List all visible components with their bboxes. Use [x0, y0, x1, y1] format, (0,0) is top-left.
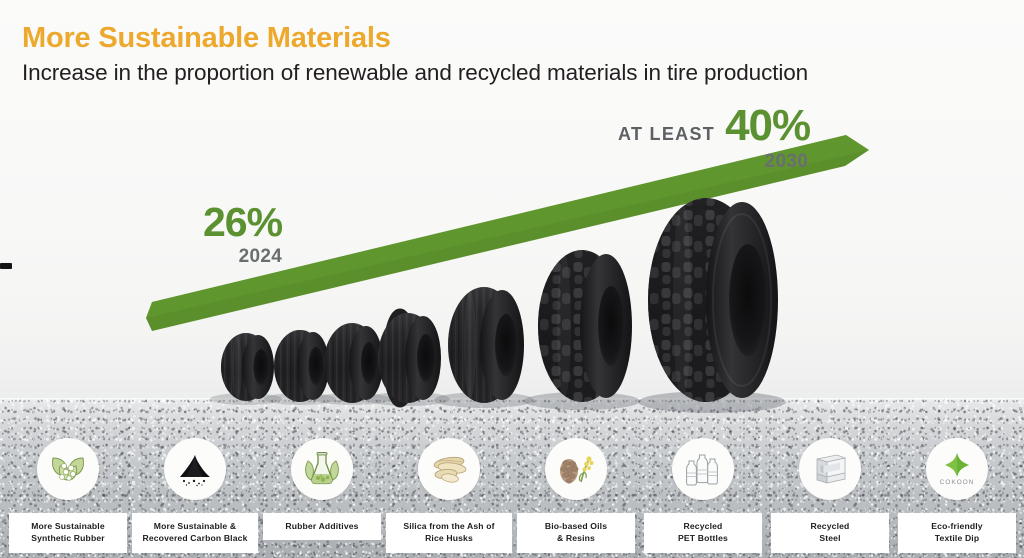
- material-card-textile-dip[interactable]: COKOON Eco-friendly Textile Dip: [893, 430, 1021, 558]
- material-card-rubber-additives[interactable]: Rubber Additives: [258, 430, 386, 558]
- material-icon-circle: [418, 438, 480, 500]
- material-label: Recycled Steel: [771, 513, 889, 553]
- callout-2024: 26% 2024: [203, 202, 282, 268]
- material-card-rice-husks[interactable]: Silica from the Ash of Rice Husks: [385, 430, 513, 558]
- material-label-line1: Silica from the Ash of: [388, 520, 510, 532]
- material-label: Eco-friendly Textile Dip: [898, 513, 1016, 553]
- material-label-line2: PET Bottles: [646, 532, 760, 544]
- cokoon-brand-text: COKOON: [940, 479, 975, 486]
- material-icon-circle: [37, 438, 99, 500]
- flask-leaves-icon: [299, 446, 345, 492]
- material-card-bio-oils[interactable]: Bio-based Oils & Resins: [512, 430, 640, 558]
- callout-2030: AT LEAST 40% 2030: [618, 104, 810, 173]
- tire-7: [648, 198, 778, 402]
- material-label: More Sustainable & Recovered Carbon Blac…: [132, 513, 258, 553]
- callout-2024-value: 26%: [203, 202, 282, 243]
- material-label-line2: Recovered Carbon Black: [134, 532, 256, 544]
- tire-3: [324, 323, 383, 403]
- tire-6: [538, 250, 632, 402]
- material-label-line2: Rice Husks: [388, 532, 510, 544]
- material-label-line1: Recycled: [773, 520, 887, 532]
- material-label-line1: Recycled: [646, 520, 760, 532]
- material-icon-circle: [545, 438, 607, 500]
- material-label: Recycled PET Bottles: [644, 513, 762, 553]
- material-icon-circle: [291, 438, 353, 500]
- callout-2024-year: 2024: [203, 246, 282, 268]
- material-label: Silica from the Ash of Rice Husks: [386, 513, 512, 553]
- material-label-line2: & Resins: [519, 532, 633, 544]
- tire-4: [378, 312, 441, 404]
- pet-bottles-icon: [680, 446, 726, 492]
- tire-5: [448, 287, 524, 403]
- material-label-line1: More Sustainable: [11, 520, 125, 532]
- material-card-synthetic-rubber[interactable]: More Sustainable Synthetic Rubber: [4, 430, 132, 558]
- leaves-latex-icon: [45, 446, 91, 492]
- material-label-line1: Eco-friendly: [900, 520, 1014, 532]
- material-label: Bio-based Oils & Resins: [517, 513, 635, 553]
- material-label-line2: Steel: [773, 532, 887, 544]
- material-label-line1: Rubber Additives: [265, 520, 379, 532]
- cokoon-logo-icon: [944, 452, 970, 478]
- material-label: More Sustainable Synthetic Rubber: [9, 513, 127, 553]
- materials-strip: More Sustainable Synthetic Rubber: [0, 430, 1024, 558]
- material-card-carbon-black[interactable]: More Sustainable & Recovered Carbon Blac…: [131, 430, 259, 558]
- material-label-line1: Bio-based Oils: [519, 520, 633, 532]
- material-card-recycled-steel[interactable]: Recycled Steel: [766, 430, 894, 558]
- material-icon-circle: COKOON: [926, 438, 988, 500]
- material-icon-circle: [672, 438, 734, 500]
- material-card-pet-bottles[interactable]: Recycled PET Bottles: [639, 430, 767, 558]
- carbon-black-pile-icon: [172, 446, 218, 492]
- illustration-layer: [0, 0, 1024, 430]
- material-icon-circle: [164, 438, 226, 500]
- tire-2: [274, 330, 329, 402]
- material-label-line2: Textile Dip: [900, 532, 1014, 544]
- callout-2030-prefix: AT LEAST: [618, 124, 715, 145]
- rice-husks-icon: [426, 446, 472, 492]
- slide-canvas: More Sustainable Materials Increase in t…: [0, 0, 1024, 558]
- material-label: Rubber Additives: [263, 513, 381, 540]
- callout-2030-year: 2030: [618, 151, 808, 173]
- pinecone-rapeseed-icon: [553, 446, 599, 492]
- material-icon-circle: [799, 438, 861, 500]
- material-label-line1: More Sustainable &: [134, 520, 256, 532]
- material-label-line2: Synthetic Rubber: [11, 532, 125, 544]
- steel-beam-icon: [807, 446, 853, 492]
- callout-2030-value: 40%: [725, 104, 810, 148]
- tire-1: [221, 333, 274, 401]
